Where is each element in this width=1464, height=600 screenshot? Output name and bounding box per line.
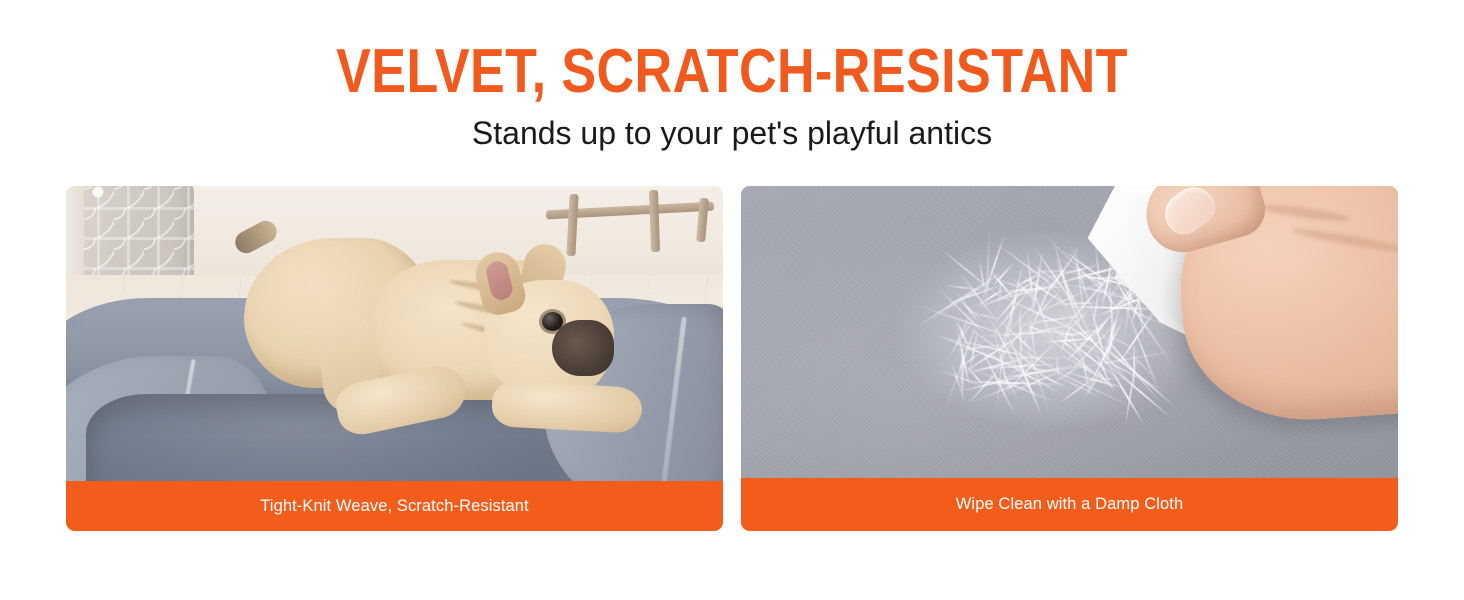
- thumb-nail: [1157, 186, 1223, 242]
- page-title: VELVET, SCRATCH-RESISTANT: [117, 38, 1347, 106]
- page-subtitle: Stands up to your pet's playful antics: [0, 114, 1464, 152]
- human-hand: [1141, 186, 1398, 442]
- card-caption-wipe-clean: Wipe Clean with a Damp Cloth: [741, 478, 1398, 531]
- feature-banner: VELVET, SCRATCH-RESISTANT Stands up to y…: [0, 0, 1464, 600]
- dog-muzzle: [552, 320, 614, 376]
- grey-velvet-fabric: [741, 186, 1398, 478]
- stool-leg: [649, 190, 660, 252]
- feature-card-scratch-resistant: Tight-Knit Weave, Scratch-Resistant: [66, 186, 723, 531]
- card-caption-scratch-resistant: Tight-Knit Weave, Scratch-Resistant: [66, 481, 723, 531]
- dog-on-velvet-bed-photo: [66, 186, 723, 481]
- dog-paw: [491, 380, 643, 434]
- banner-header: VELVET, SCRATCH-RESISTANT Stands up to y…: [0, 0, 1464, 152]
- feature-card-wipe-clean: Wipe Clean with a Damp Cloth: [741, 186, 1398, 531]
- french-bulldog: [216, 216, 646, 446]
- wipe-fur-photo: [741, 186, 1398, 478]
- room-scene: [66, 186, 723, 481]
- feature-card-list: Tight-Knit Weave, Scratch-Resistant: [66, 186, 1398, 531]
- dog-tail: [231, 217, 280, 257]
